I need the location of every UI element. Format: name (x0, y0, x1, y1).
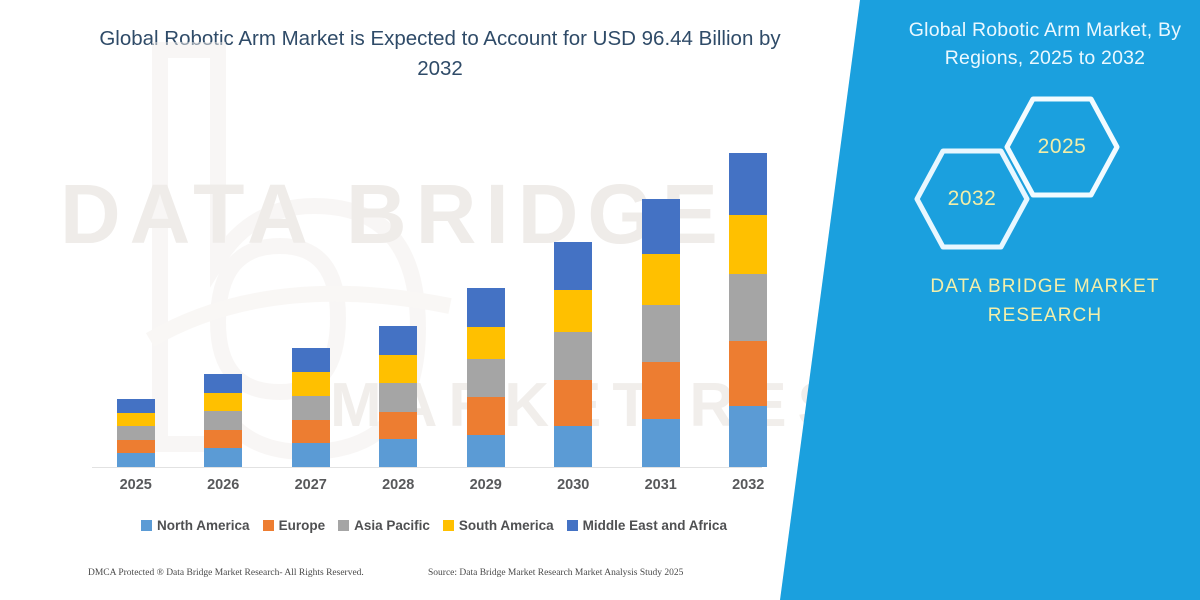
bar-segment (729, 406, 767, 467)
bar-segment (554, 380, 592, 426)
hexagon-group: 2032 2025 (885, 95, 1185, 230)
x-axis-label-2031: 2031 (631, 477, 691, 493)
bar-segment (379, 412, 417, 439)
bar-segment (467, 397, 505, 435)
x-axis-label-2032: 2032 (718, 477, 778, 493)
legend-swatch-icon (443, 520, 454, 531)
bar-segment (554, 290, 592, 332)
legend-item-middle-east-and-africa[interactable]: Middle East and Africa (567, 518, 727, 533)
brand-name: DATA BRIDGE MARKET RESEARCH (900, 272, 1190, 331)
chart-legend: North AmericaEuropeAsia PacificSouth Ame… (84, 514, 784, 536)
x-axis-label-2027: 2027 (281, 477, 341, 493)
bar-segment (204, 448, 242, 467)
footer-copyright: DMCA Protected ® Data Bridge Market Rese… (88, 568, 364, 578)
bar-segment (292, 372, 330, 396)
bar-segment (292, 348, 330, 372)
x-axis-label-2028: 2028 (368, 477, 428, 493)
bar-segment (467, 288, 505, 327)
legend-label: Middle East and Africa (583, 518, 727, 533)
bar-segment (204, 430, 242, 448)
legend-item-europe[interactable]: Europe (263, 518, 326, 533)
stacked-bar-chart (84, 96, 784, 468)
bar-segment (379, 326, 417, 355)
bar-segment (729, 341, 767, 406)
bar-segment (117, 453, 155, 467)
legend-item-south-america[interactable]: South America (443, 518, 554, 533)
bar-2029 (467, 288, 505, 467)
legend-label: Asia Pacific (354, 518, 430, 533)
legend-label: South America (459, 518, 554, 533)
bar-segment (729, 215, 767, 274)
bar-segment (467, 327, 505, 359)
bar-segment (642, 254, 680, 305)
infographic-root: DATA BRIDGE MARKET RESEARCH Global Robot… (0, 0, 1200, 600)
bar-segment (117, 426, 155, 440)
bar-segment (642, 199, 680, 254)
legend-label: Europe (279, 518, 326, 533)
x-axis-label-2026: 2026 (193, 477, 253, 493)
legend-item-asia-pacific[interactable]: Asia Pacific (338, 518, 430, 533)
bar-segment (554, 242, 592, 290)
x-axis-label-2025: 2025 (106, 477, 166, 493)
hexagon-2025: 2025 (1003, 95, 1121, 199)
bar-segment (117, 413, 155, 426)
axis-baseline (92, 467, 762, 468)
hexagon-2025-label: 2025 (1003, 95, 1121, 199)
bar-2031 (642, 199, 680, 467)
bar-segment (642, 305, 680, 362)
x-axis-label-2030: 2030 (543, 477, 603, 493)
panel-title: Global Robotic Arm Market, By Regions, 2… (900, 16, 1190, 73)
legend-swatch-icon (338, 520, 349, 531)
bar-segment (204, 393, 242, 411)
bar-2028 (379, 326, 417, 467)
bar-segment (467, 435, 505, 467)
x-axis-label-2029: 2029 (456, 477, 516, 493)
bar-segment (204, 374, 242, 393)
brand-panel: Global Robotic Arm Market, By Regions, 2… (780, 0, 1200, 600)
footer: DMCA Protected ® Data Bridge Market Rese… (0, 568, 790, 588)
footer-source: Source: Data Bridge Market Research Mark… (428, 568, 683, 578)
bar-segment (117, 440, 155, 453)
bar-2025 (117, 399, 155, 467)
bar-segment (292, 396, 330, 420)
bar-2027 (292, 348, 330, 467)
bar-segment (379, 383, 417, 412)
bar-segment (379, 439, 417, 467)
legend-label: North America (157, 518, 250, 533)
legend-swatch-icon (263, 520, 274, 531)
bar-segment (554, 426, 592, 467)
x-axis-labels: 20252026202720282029203020312032 (84, 477, 784, 499)
bar-segment (292, 443, 330, 467)
bar-segment (467, 359, 505, 397)
bar-segment (204, 411, 242, 430)
legend-swatch-icon (141, 520, 152, 531)
bar-segment (642, 419, 680, 467)
bar-segment (554, 332, 592, 380)
bar-segment (729, 153, 767, 215)
bar-segment (729, 274, 767, 341)
bar-segment (117, 399, 155, 413)
bar-2032 (729, 153, 767, 467)
bar-segment (292, 420, 330, 443)
bar-2030 (554, 242, 592, 467)
bar-segment (642, 362, 680, 419)
legend-swatch-icon (567, 520, 578, 531)
bar-segment (379, 355, 417, 383)
legend-item-north-america[interactable]: North America (141, 518, 250, 533)
bar-2026 (204, 374, 242, 467)
page-title: Global Robotic Arm Market is Expected to… (84, 24, 796, 85)
